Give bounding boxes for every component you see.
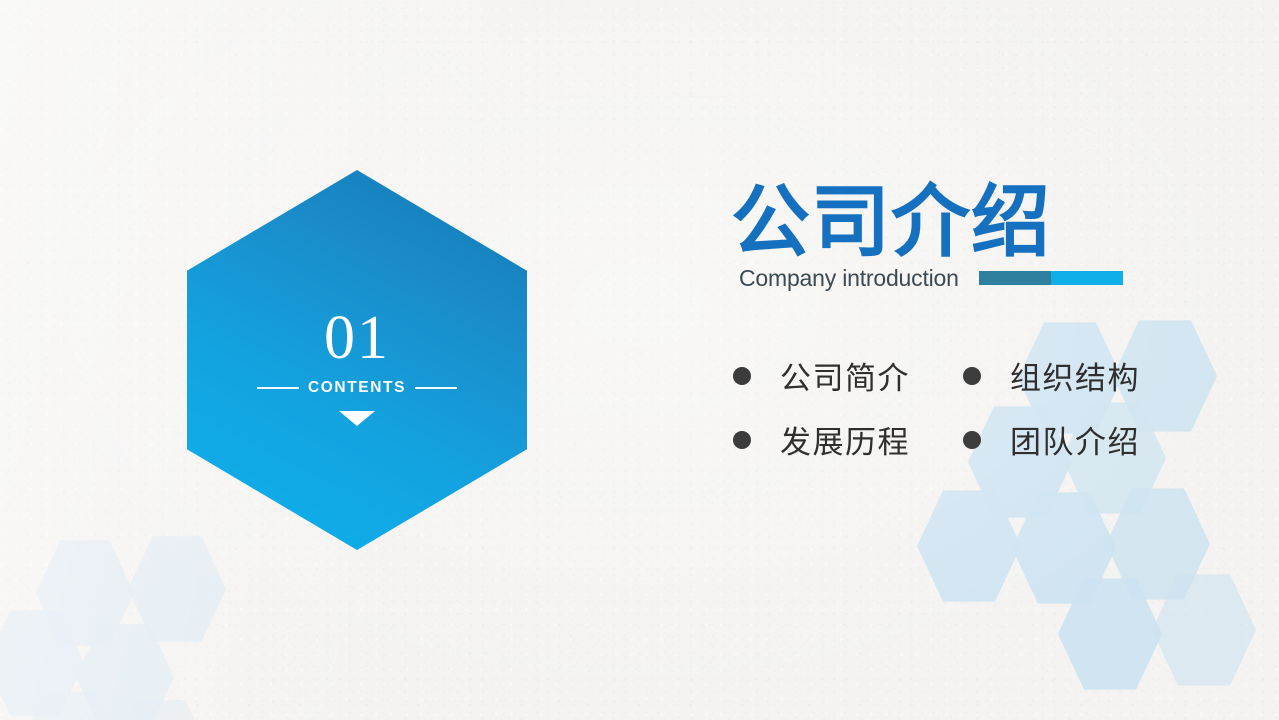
decorative-hexagon	[917, 488, 1021, 604]
bullet-dot-icon	[963, 367, 981, 385]
decorative-hexagon	[36, 538, 134, 648]
subtitle: Company introduction	[739, 265, 959, 292]
bullet-dot-icon	[733, 431, 751, 449]
accent-bar-segment-right	[1051, 271, 1123, 285]
accent-bar-segment-left	[979, 271, 1051, 285]
section-number-hexagon: 01 CONTENTS	[187, 170, 527, 550]
triangle-down-icon	[339, 411, 375, 426]
decorative-hexagon	[20, 690, 118, 720]
decorative-hexagon	[128, 534, 226, 644]
decorative-hexagon	[76, 622, 174, 720]
presentation-slide: 01 CONTENTS 公司介绍 Company introduction 公司…	[0, 0, 1279, 720]
accent-bar	[979, 271, 1123, 285]
decorative-hexagon	[1012, 490, 1116, 606]
list-item-label: 组织结构	[1010, 353, 1140, 398]
page-title: 公司介绍	[731, 182, 1247, 263]
agenda-list: 公司简介 组织结构 发展历程 团队介绍	[733, 344, 1247, 472]
contents-label: CONTENTS	[308, 379, 406, 397]
decorative-hexagon	[112, 698, 210, 720]
section-number: 01	[324, 307, 390, 369]
list-item[interactable]: 团队介绍	[963, 408, 1193, 472]
subtitle-row: Company introduction	[739, 265, 1247, 292]
list-item[interactable]: 公司简介	[733, 344, 963, 408]
decorative-hexagon	[1058, 576, 1162, 692]
list-item[interactable]: 发展历程	[733, 408, 963, 472]
bullet-dot-icon	[733, 367, 751, 385]
bullet-dot-icon	[963, 431, 981, 449]
list-item-label: 发展历程	[780, 417, 910, 462]
slide-content-column: 公司介绍 Company introduction 公司简介 组织结构 发展历程	[727, 182, 1247, 472]
list-item[interactable]: 组织结构	[963, 344, 1193, 408]
decorative-hexagon	[0, 608, 84, 718]
contents-label-row: CONTENTS	[257, 379, 457, 397]
list-item-label: 公司简介	[780, 353, 910, 398]
decorative-hexagon	[1106, 486, 1210, 602]
list-item-label: 团队介绍	[1010, 417, 1140, 462]
rule-left	[257, 387, 299, 389]
section-number-hexagon-content: 01 CONTENTS	[187, 170, 527, 550]
rule-right	[415, 387, 457, 389]
decorative-hexagon	[1152, 572, 1256, 688]
